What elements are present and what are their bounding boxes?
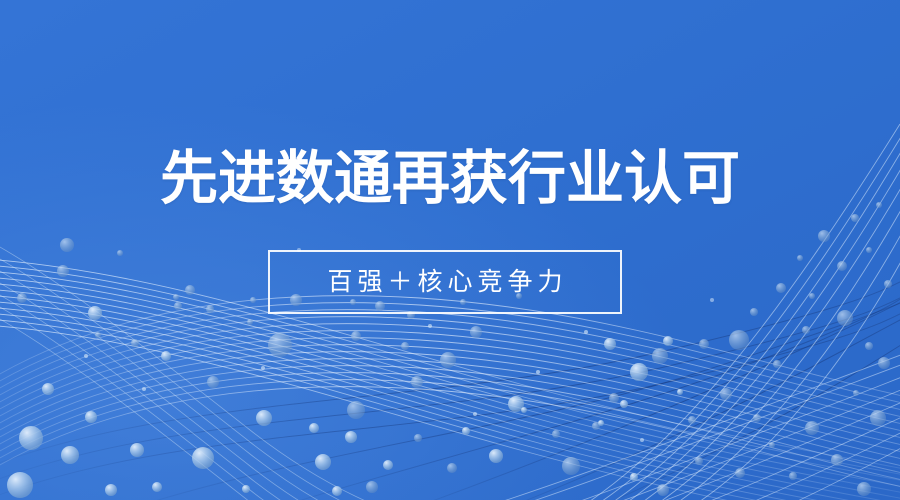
- banner-content: 先进数通再获行业认可 百强＋核心竞争力: [0, 0, 900, 500]
- promotional-banner: 先进数通再获行业认可 百强＋核心竞争力: [0, 0, 900, 500]
- banner-title: 先进数通再获行业认可: [0, 140, 900, 216]
- banner-subtitle: 百强＋核心竞争力: [322, 267, 567, 297]
- subtitle-frame: 百强＋核心竞争力: [268, 250, 622, 314]
